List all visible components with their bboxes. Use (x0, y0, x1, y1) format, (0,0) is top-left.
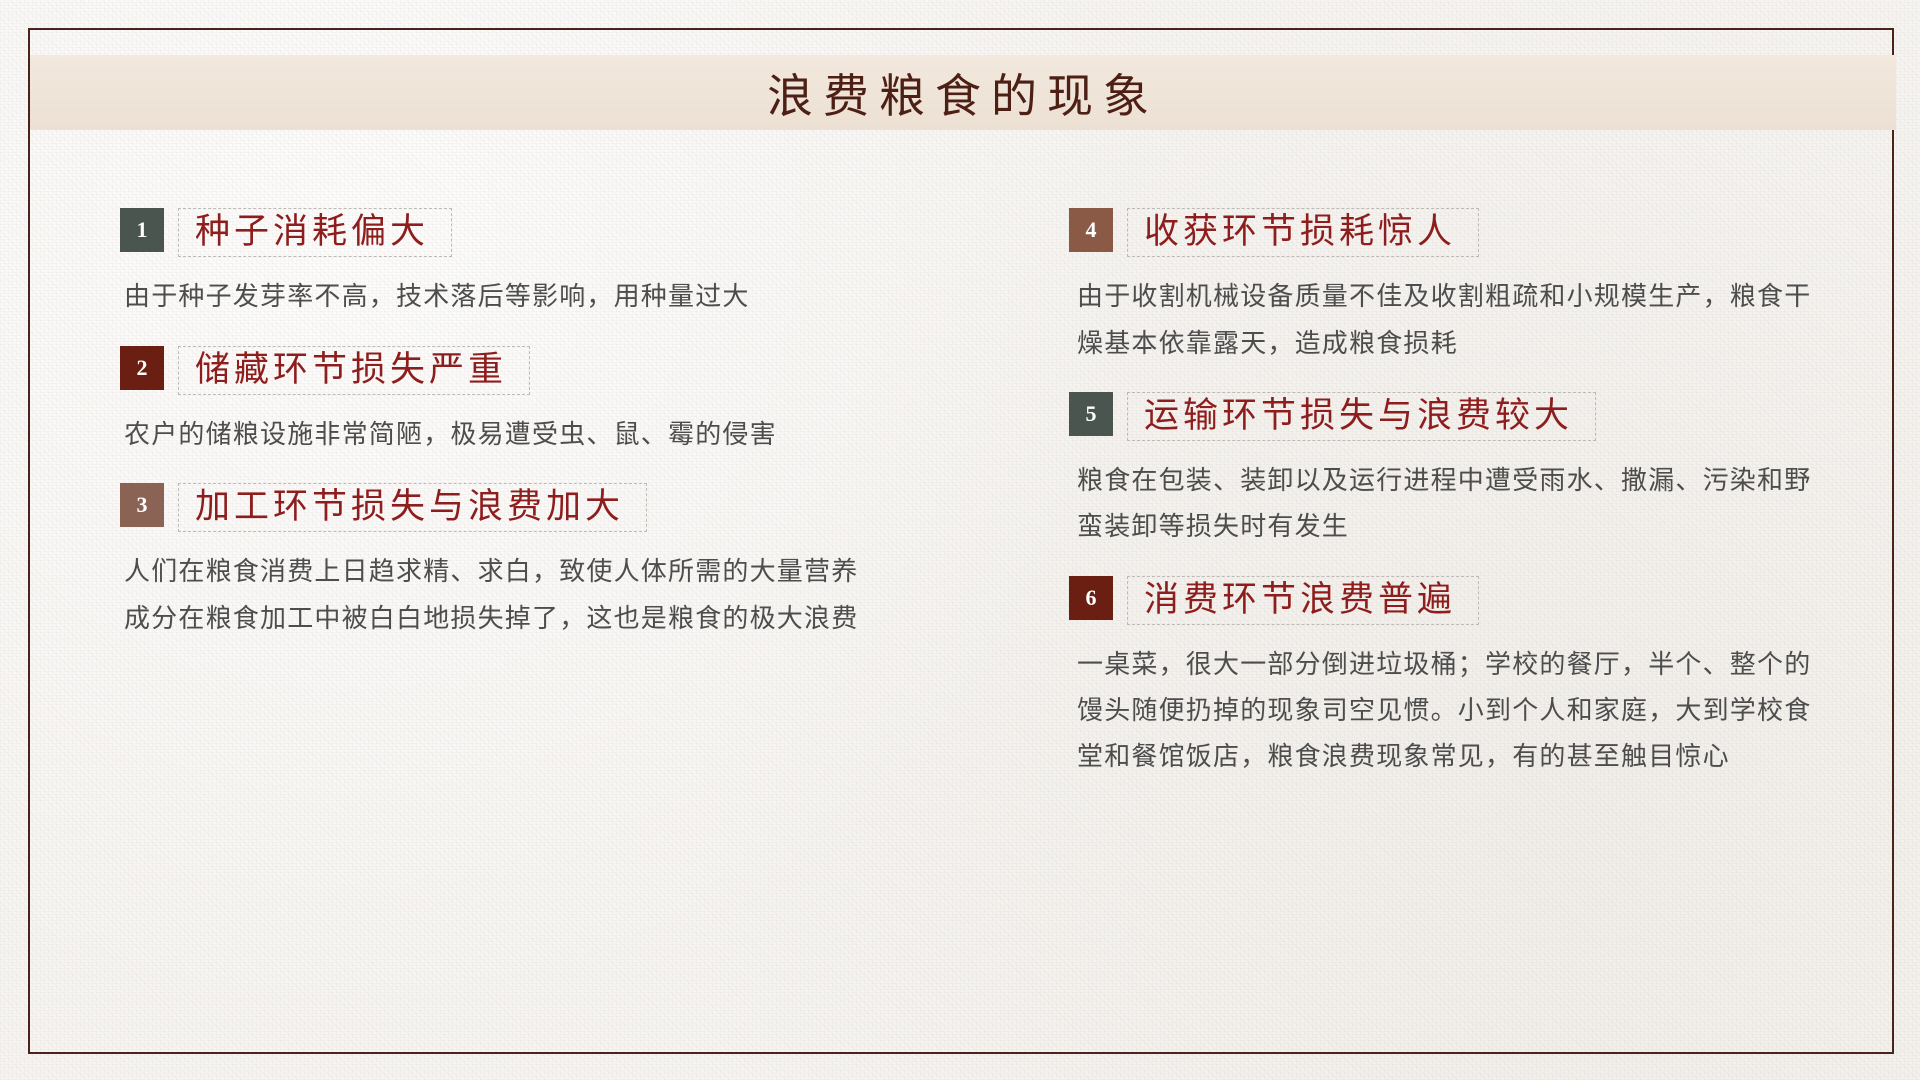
item-number-badge: 5 (1069, 392, 1113, 436)
item-number-badge: 2 (120, 346, 164, 390)
item-heading-row: 1 种子消耗偏大 (120, 208, 957, 257)
item-heading-row: 4 收获环节损耗惊人 (1069, 208, 1884, 257)
list-item: 5 运输环节损失与浪费较大 粮食在包装、装卸以及运行进程中遭受雨水、撒漏、污染和… (1069, 392, 1884, 550)
item-heading-box: 运输环节损失与浪费较大 (1127, 392, 1596, 441)
item-heading-row: 3 加工环节损失与浪费加大 (120, 483, 957, 532)
right-column: 4 收获环节损耗惊人 由于收割机械设备质量不佳及收割粗疏和小规模生产，粮食干燥基… (991, 180, 1920, 1056)
item-heading-box: 种子消耗偏大 (178, 208, 452, 257)
item-body-text: 人们在粮食消费上日趋求精、求白，致使人体所需的大量营养成分在粮食加工中被白白地损… (124, 548, 864, 641)
left-column: 1 种子消耗偏大 由于种子发芽率不高，技术落后等影响，用种量过大 2 储藏环节损… (58, 180, 991, 1056)
item-body-text: 农户的储粮设施非常简陋，极易遭受虫、鼠、霉的侵害 (124, 411, 864, 457)
list-item: 3 加工环节损失与浪费加大 人们在粮食消费上日趋求精、求白，致使人体所需的大量营… (120, 483, 957, 641)
item-body-text: 一桌菜，很大一部分倒进垃圾桶；学校的餐厅，半个、整个的馒头随便扔掉的现象司空见惯… (1077, 641, 1817, 780)
item-body-text: 粮食在包装、装卸以及运行进程中遭受雨水、撒漏、污染和野蛮装卸等损失时有发生 (1077, 457, 1817, 550)
content-area: 1 种子消耗偏大 由于种子发芽率不高，技术落后等影响，用种量过大 2 储藏环节损… (58, 180, 1920, 1056)
page-title: 浪费粮食的现象 (767, 60, 1159, 126)
item-heading-label: 储藏环节损失严重 (195, 349, 507, 390)
item-number-badge: 4 (1069, 208, 1113, 252)
item-heading-row: 2 储藏环节损失严重 (120, 346, 957, 395)
item-number-badge: 3 (120, 483, 164, 527)
item-heading-row: 5 运输环节损失与浪费较大 (1069, 392, 1884, 441)
item-heading-box: 收获环节损耗惊人 (1127, 208, 1479, 257)
title-band: 浪费粮食的现象 (30, 55, 1896, 130)
item-heading-label: 消费环节浪费普遍 (1144, 579, 1456, 620)
item-heading-box: 加工环节损失与浪费加大 (178, 483, 647, 532)
item-heading-box: 储藏环节损失严重 (178, 346, 530, 395)
item-number-badge: 6 (1069, 576, 1113, 620)
item-heading-label: 收获环节损耗惊人 (1144, 211, 1456, 252)
item-heading-row: 6 消费环节浪费普遍 (1069, 576, 1884, 625)
page-border-frame: 浪费粮食的现象 1 种子消耗偏大 由于种子发芽率不高，技术落后等影响，用种量过大… (28, 28, 1894, 1054)
list-item: 4 收获环节损耗惊人 由于收割机械设备质量不佳及收割粗疏和小规模生产，粮食干燥基… (1069, 208, 1884, 366)
item-body-text: 由于种子发芽率不高，技术落后等影响，用种量过大 (124, 273, 864, 319)
item-heading-label: 运输环节损失与浪费较大 (1144, 395, 1573, 436)
item-heading-label: 加工环节损失与浪费加大 (195, 486, 624, 527)
item-number-badge: 1 (120, 208, 164, 252)
item-body-text: 由于收割机械设备质量不佳及收割粗疏和小规模生产，粮食干燥基本依靠露天，造成粮食损… (1077, 273, 1817, 366)
item-heading-box: 消费环节浪费普遍 (1127, 576, 1479, 625)
list-item: 1 种子消耗偏大 由于种子发芽率不高，技术落后等影响，用种量过大 (120, 208, 957, 320)
list-item: 2 储藏环节损失严重 农户的储粮设施非常简陋，极易遭受虫、鼠、霉的侵害 (120, 346, 957, 458)
item-heading-label: 种子消耗偏大 (195, 211, 429, 252)
list-item: 6 消费环节浪费普遍 一桌菜，很大一部分倒进垃圾桶；学校的餐厅，半个、整个的馒头… (1069, 576, 1884, 780)
